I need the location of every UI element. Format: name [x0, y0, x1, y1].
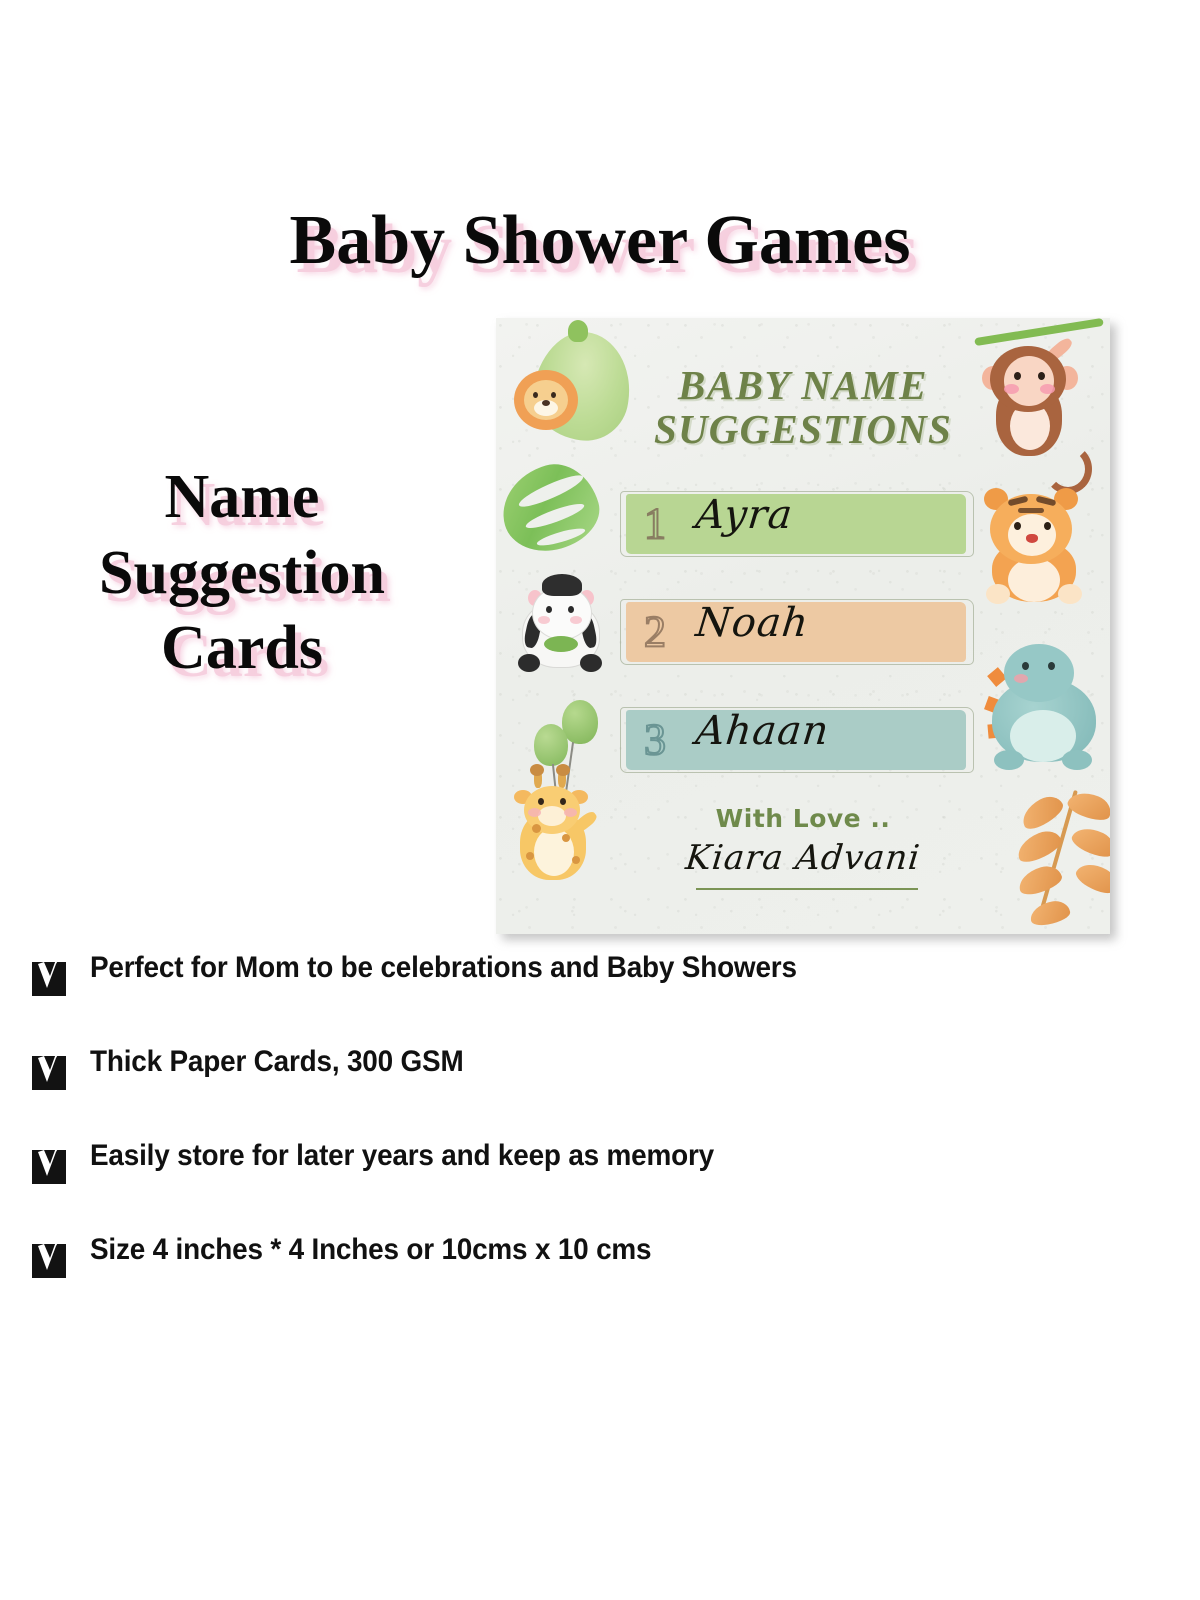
zebra-foot-left [518, 654, 540, 672]
zebra-eye-right [568, 606, 574, 613]
tiger-stripe-1 [1008, 496, 1029, 507]
list-item: Thick Paper Cards, 300 GSM [30, 1044, 1170, 1090]
zebra-ear-right [580, 590, 594, 606]
feature-text: Thick Paper Cards, 300 GSM [90, 1044, 464, 1081]
zebra-bowtie-icon [544, 636, 578, 652]
tiger-icon [992, 540, 1076, 602]
tiger-stripe-2 [1036, 496, 1057, 507]
monstera-notch-3 [536, 525, 587, 548]
checkbox-check-icon [30, 954, 68, 996]
feature-list: Perfect for Mom to be celebrations and B… [30, 950, 1170, 1278]
giraffe-horntip-left [530, 764, 544, 776]
checkbox-check-icon [30, 1048, 68, 1090]
giraffe-horntip-right [556, 764, 570, 776]
dino-eye-left [1022, 662, 1029, 670]
dinosaur-icon [992, 678, 1096, 762]
blanket-knot-icon [568, 320, 588, 342]
giraffe-horn-left [534, 770, 542, 788]
entry-name: Ahaan [694, 708, 832, 754]
fern-leaf-7 [1028, 899, 1071, 928]
tiger-eye-left [1014, 522, 1021, 530]
dino-spike-3 [987, 723, 1002, 738]
page-title: Baby Shower Games [0, 206, 1200, 276]
tiger-ear-left [984, 488, 1008, 510]
card-title-line-2: SUGGESTIONS [496, 408, 1110, 452]
tiger-face [1008, 514, 1056, 556]
list-item: Easily store for later years and keep as… [30, 1138, 1170, 1184]
balloon-icon-2 [534, 724, 568, 766]
dino-spike-2 [984, 696, 1002, 714]
monstera-notch-1 [516, 470, 586, 511]
tiger-paw-right [1058, 584, 1082, 604]
dino-spike-1 [987, 667, 1007, 687]
checkbox-check-icon [30, 1236, 68, 1278]
dino-eye-right [1048, 662, 1055, 670]
entry-name: Ayra [694, 492, 796, 538]
zebra-icon [522, 600, 600, 668]
list-item: Size 4 inches * 4 Inches or 10cms x 10 c… [30, 1232, 1170, 1278]
entry-number: 3 [644, 714, 666, 765]
product-card-image: BABY NAME SUGGESTIONS 1 Ayra 2 Noah 3 Ah… [496, 318, 1110, 934]
card-title: BABY NAME SUGGESTIONS [496, 364, 1110, 452]
giraffe-ear-right [570, 790, 588, 804]
entry-name: Noah [694, 600, 812, 646]
monstera-leaf-icon [496, 454, 608, 561]
card-closing-text: With Love .. [496, 804, 1110, 833]
zebra-cheek-left [538, 616, 550, 624]
vine-icon [974, 318, 1104, 346]
tiger-head [990, 494, 1072, 564]
card-title-line-1: BABY NAME [678, 362, 928, 408]
dino-head [1004, 644, 1074, 702]
tiger-eye-right [1044, 522, 1051, 530]
balloon-string-2 [552, 764, 558, 804]
zebra-mane-icon [542, 574, 582, 596]
feature-text: Easily store for later years and keep as… [90, 1138, 714, 1175]
zebra-foot-right [580, 654, 602, 672]
tiger-paw-left [986, 584, 1010, 604]
feature-text: Size 4 inches * 4 Inches or 10cms x 10 c… [90, 1232, 651, 1269]
giraffe-ear-left [514, 790, 532, 804]
subtitle-line-1: Name [22, 460, 462, 536]
zebra-stripe-left [523, 613, 544, 649]
zebra-eye-left [546, 606, 552, 613]
zebra-head-icon [532, 586, 592, 640]
checkbox-check-icon [30, 1142, 68, 1184]
tiger-nose [1026, 534, 1038, 543]
zebra-stripe-right [579, 613, 599, 649]
dino-foot-right [1062, 750, 1092, 770]
product-subtitle: Name Suggestion Cards [22, 460, 462, 687]
name-entry-row[interactable]: 3 Ahaan [626, 710, 966, 770]
giraffe-horn-right [558, 770, 566, 788]
zebra-cheek-right [570, 616, 582, 624]
entry-number: 2 [644, 606, 666, 657]
subtitle-line-3: Cards [22, 611, 462, 687]
feature-text: Perfect for Mom to be celebrations and B… [90, 950, 797, 987]
name-entry-row[interactable]: 1 Ayra [626, 494, 966, 554]
balloon-string-1 [564, 742, 574, 800]
signature-underline [696, 888, 918, 890]
monstera-notch-2 [524, 500, 586, 532]
name-entry-row[interactable]: 2 Noah [626, 602, 966, 662]
list-item: Perfect for Mom to be celebrations and B… [30, 950, 1170, 996]
zebra-ear-left [528, 590, 542, 606]
dino-foot-left [994, 750, 1024, 770]
dino-belly [1010, 710, 1076, 762]
dino-cheek [1014, 674, 1028, 683]
balloon-icon-1 [562, 700, 598, 744]
tiger-ear-right [1054, 488, 1078, 510]
card-signature: Kiara Advani [496, 838, 1110, 878]
entry-number: 1 [644, 498, 666, 549]
monkey-arm [1044, 336, 1075, 364]
tiger-belly [1008, 558, 1060, 602]
subtitle-line-2: Suggestion [22, 536, 462, 612]
tiger-stripe-3 [1018, 508, 1044, 513]
